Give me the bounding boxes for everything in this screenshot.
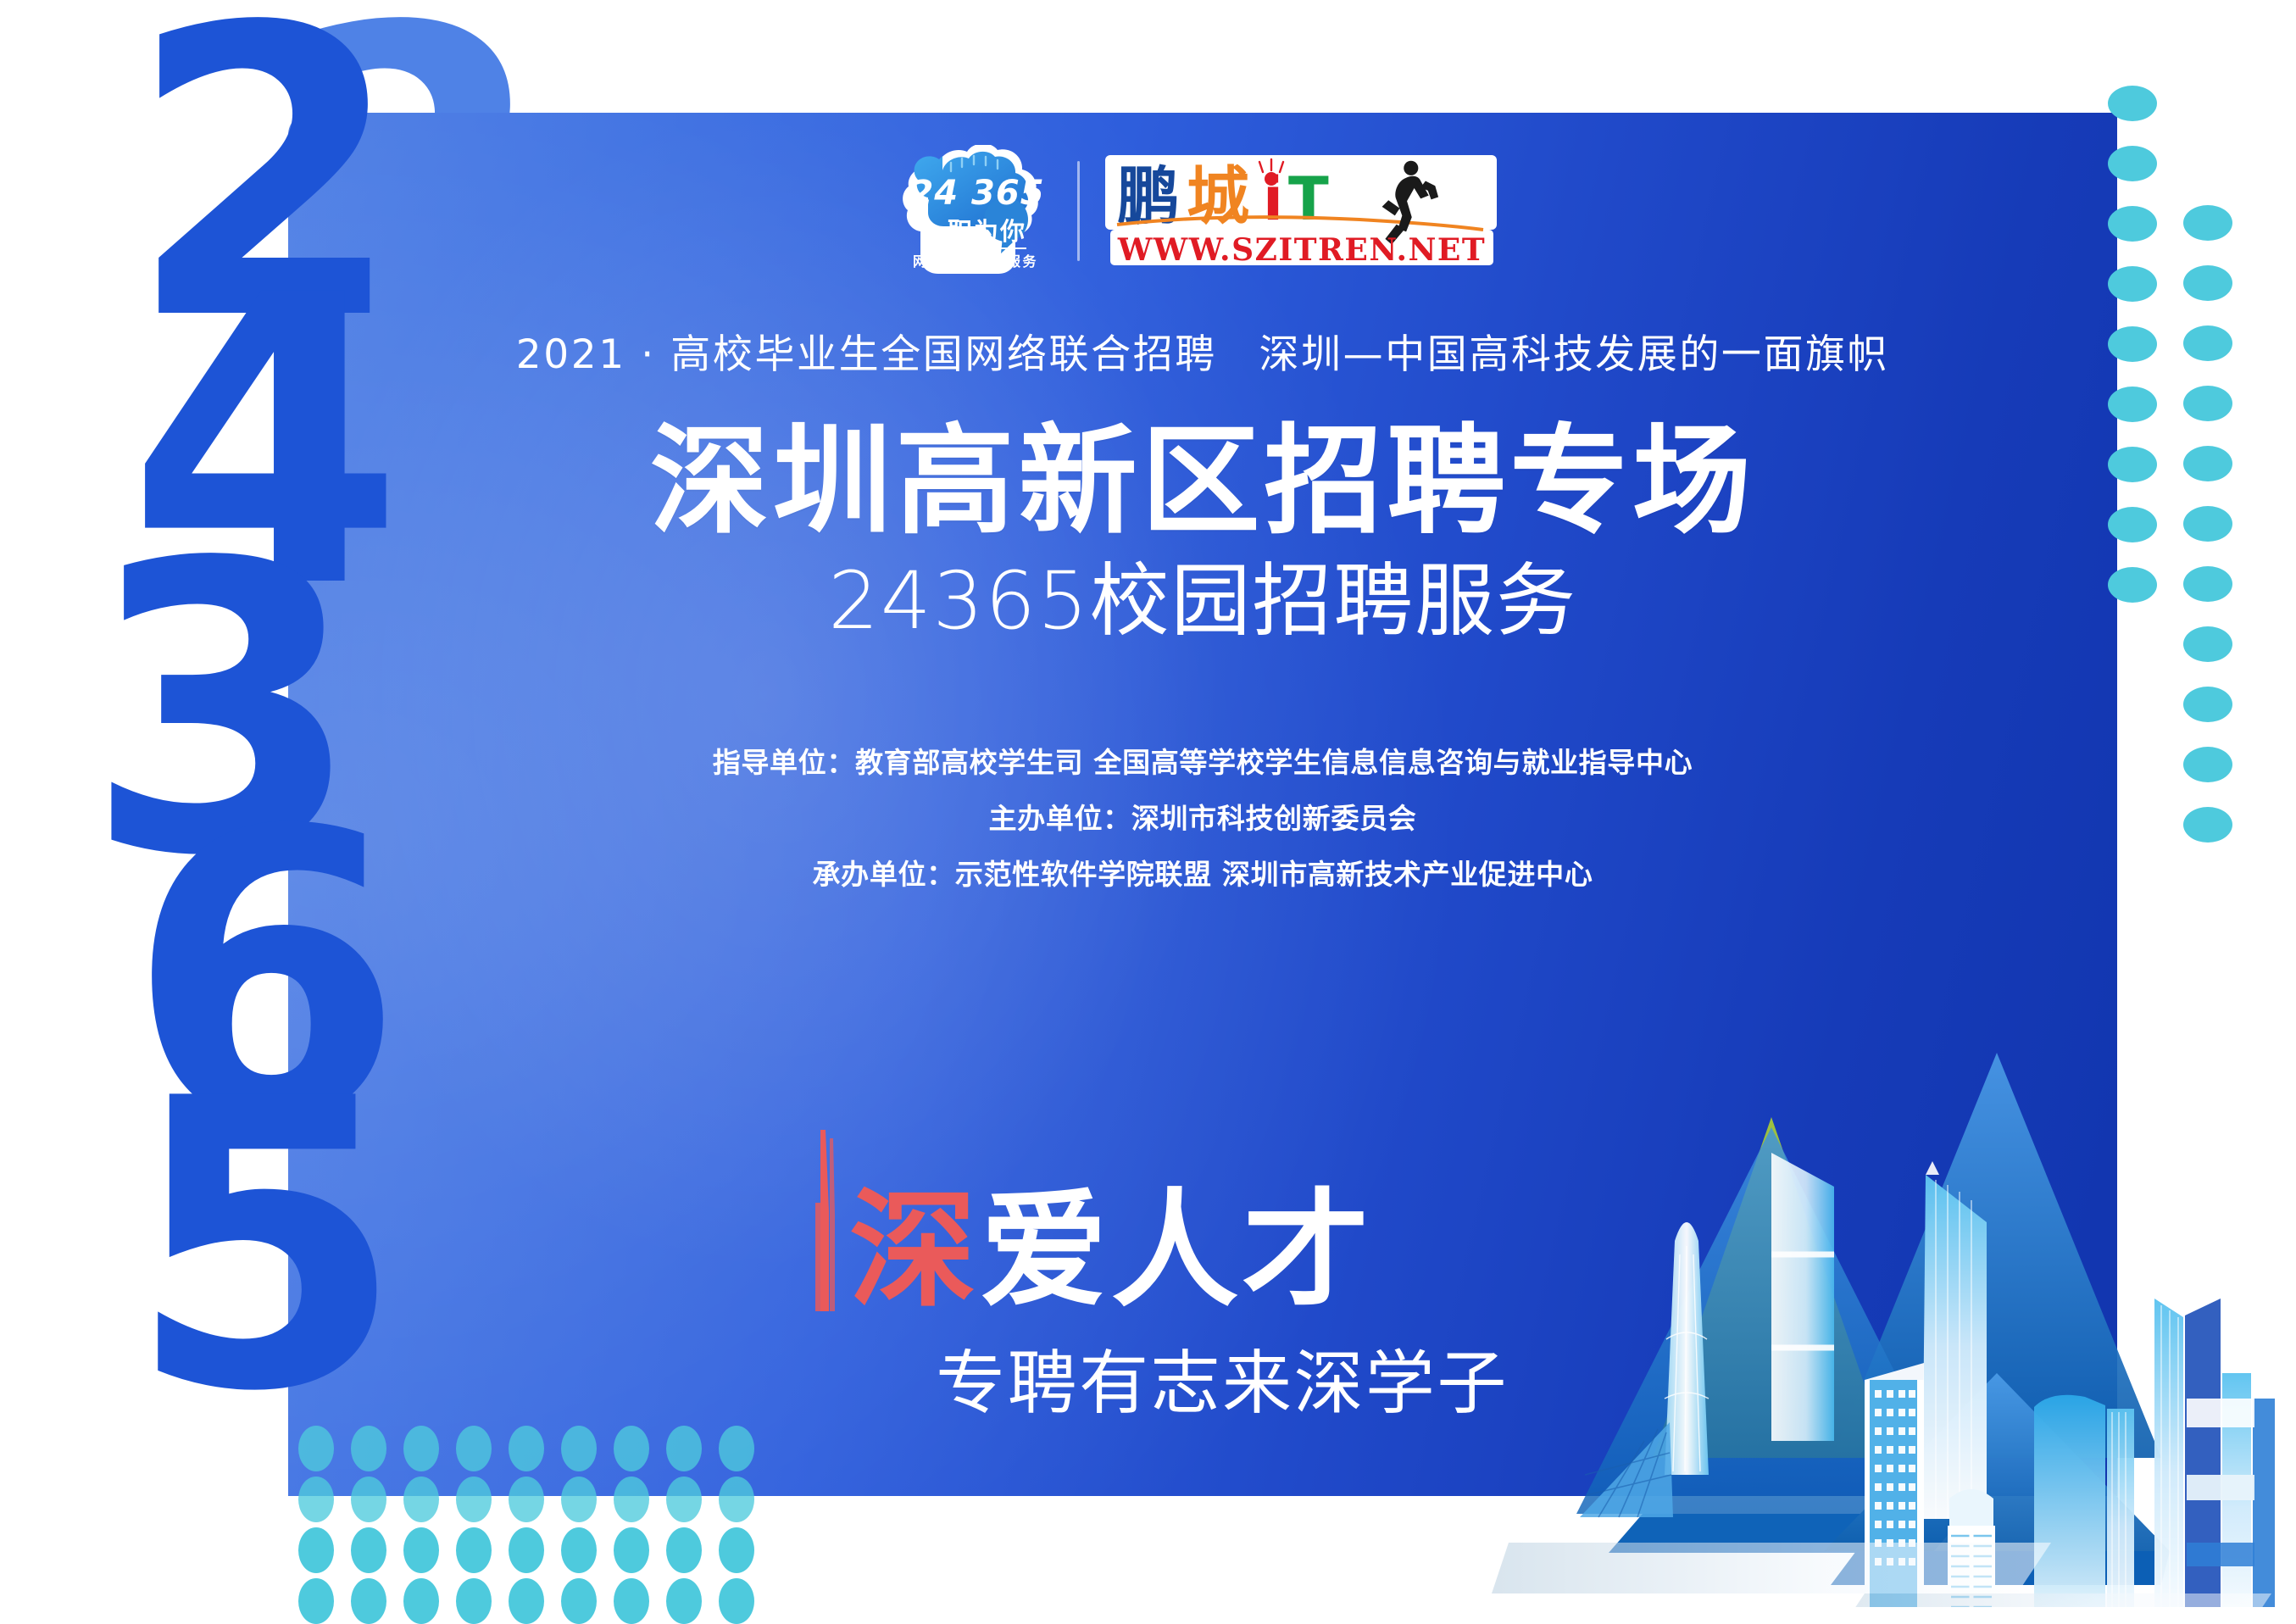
decor-dot [614, 1527, 649, 1573]
slogan-highlight-char: 深 [849, 1177, 981, 1325]
decor-dot [456, 1477, 492, 1522]
decor-dot [509, 1578, 544, 1624]
svg-text:WWW.SZITREN.NET: WWW.SZITREN.NET [1116, 232, 1485, 268]
decor-dot [719, 1477, 754, 1522]
decor-dot [2183, 506, 2232, 542]
24365-cloud-logo: 24 365 一职为你 网上校园招聘服务 [903, 145, 1052, 277]
decor-dot [666, 1426, 702, 1471]
decor-dot [2108, 567, 2157, 603]
decor-dot [298, 1527, 334, 1573]
organizer-guidance: 指导单位：教育部高校学生司 全国高等学校学生信息信息咨询与就业指导中心 [288, 740, 2117, 781]
decor-dot [614, 1426, 649, 1471]
decor-dot [2108, 326, 2157, 362]
svg-text:T: T [1288, 164, 1329, 234]
decor-dot [403, 1426, 439, 1471]
decor-dot [403, 1477, 439, 1522]
decor-dot [719, 1527, 754, 1573]
decor-dot [351, 1578, 386, 1624]
svg-text:24 365: 24 365 [909, 174, 1044, 213]
decor-dot [403, 1527, 439, 1573]
decor-dot [2183, 325, 2232, 361]
decor-dot [298, 1426, 334, 1471]
svg-text:网上校园招聘服务: 网上校园招聘服务 [912, 253, 1037, 270]
side-digit-5: 5 [127, 1092, 397, 1403]
decor-dot [2108, 387, 2157, 422]
decor-dot [509, 1527, 544, 1573]
decor-dot [2183, 386, 2232, 421]
decor-dot [2108, 86, 2157, 121]
shenzhen-skyline-illustration [1492, 1000, 2296, 1607]
decor-dot [2183, 626, 2232, 662]
decor-dot [614, 1578, 649, 1624]
decor-dot [2183, 807, 2232, 843]
decor-dot [719, 1426, 754, 1471]
decor-dot [561, 1426, 597, 1471]
decor-dot [666, 1578, 702, 1624]
decor-dot [2108, 146, 2157, 181]
poster-kicker: 2021 · 高校毕业生全国网络联合招聘 深圳—中国高科技发展的一面旗帜 [288, 321, 2117, 380]
poster-main-title: 深圳高新区招聘专场 [288, 386, 2117, 557]
decor-dot [298, 1477, 334, 1522]
decor-dot [2183, 566, 2232, 602]
svg-text:城: 城 [1187, 160, 1249, 233]
decor-dot [509, 1477, 544, 1522]
decor-dot [2108, 507, 2157, 542]
decor-dot [2183, 446, 2232, 481]
decor-dot [456, 1426, 492, 1471]
decor-dot [509, 1426, 544, 1471]
decor-dot [456, 1578, 492, 1624]
decor-dot [403, 1578, 439, 1624]
decor-dot [298, 1578, 334, 1624]
decor-dot [2183, 265, 2232, 301]
decor-dot [456, 1527, 492, 1573]
decor-dot [2183, 687, 2232, 722]
organizer-undertaker: 承办单位：示范性软件学院联盟 深圳市高新技术产业促进中心 [288, 852, 2117, 893]
header-logo-row: 24 365 一职为你 网上校园招聘服务 鹏 城 i T [288, 145, 2117, 277]
decor-dot [2108, 266, 2157, 302]
decor-dot [351, 1426, 386, 1471]
szitren-logo: 鹏 城 i T [1105, 152, 1504, 270]
decor-dot [351, 1527, 386, 1573]
decor-dot [561, 1527, 597, 1573]
decor-dot [2108, 206, 2157, 242]
decor-dot [561, 1578, 597, 1624]
decor-dot [2108, 447, 2157, 482]
decor-dot [2183, 205, 2232, 241]
slogan-main: 深爱人才 [849, 1187, 1373, 1315]
slogan-rest-chars: 爱人才 [981, 1177, 1374, 1325]
decor-dot [351, 1477, 386, 1522]
decor-dot [666, 1527, 702, 1573]
decor-dot [719, 1578, 754, 1624]
red-tower-mark [807, 1130, 846, 1315]
decor-dot [561, 1477, 597, 1522]
decor-dot [666, 1477, 702, 1522]
svg-text:一职为你: 一职为你 [920, 217, 1026, 246]
poster-sub-title: 24365校园招聘服务 [288, 537, 2117, 652]
decor-dot [614, 1477, 649, 1522]
organizer-host: 主办单位：深圳市科技创新委员会 [288, 796, 2117, 837]
logo-divider [1077, 161, 1080, 261]
decor-dot [2183, 747, 2232, 782]
poster-canvas: 2 4 3 6 5 [0, 0, 2296, 1607]
